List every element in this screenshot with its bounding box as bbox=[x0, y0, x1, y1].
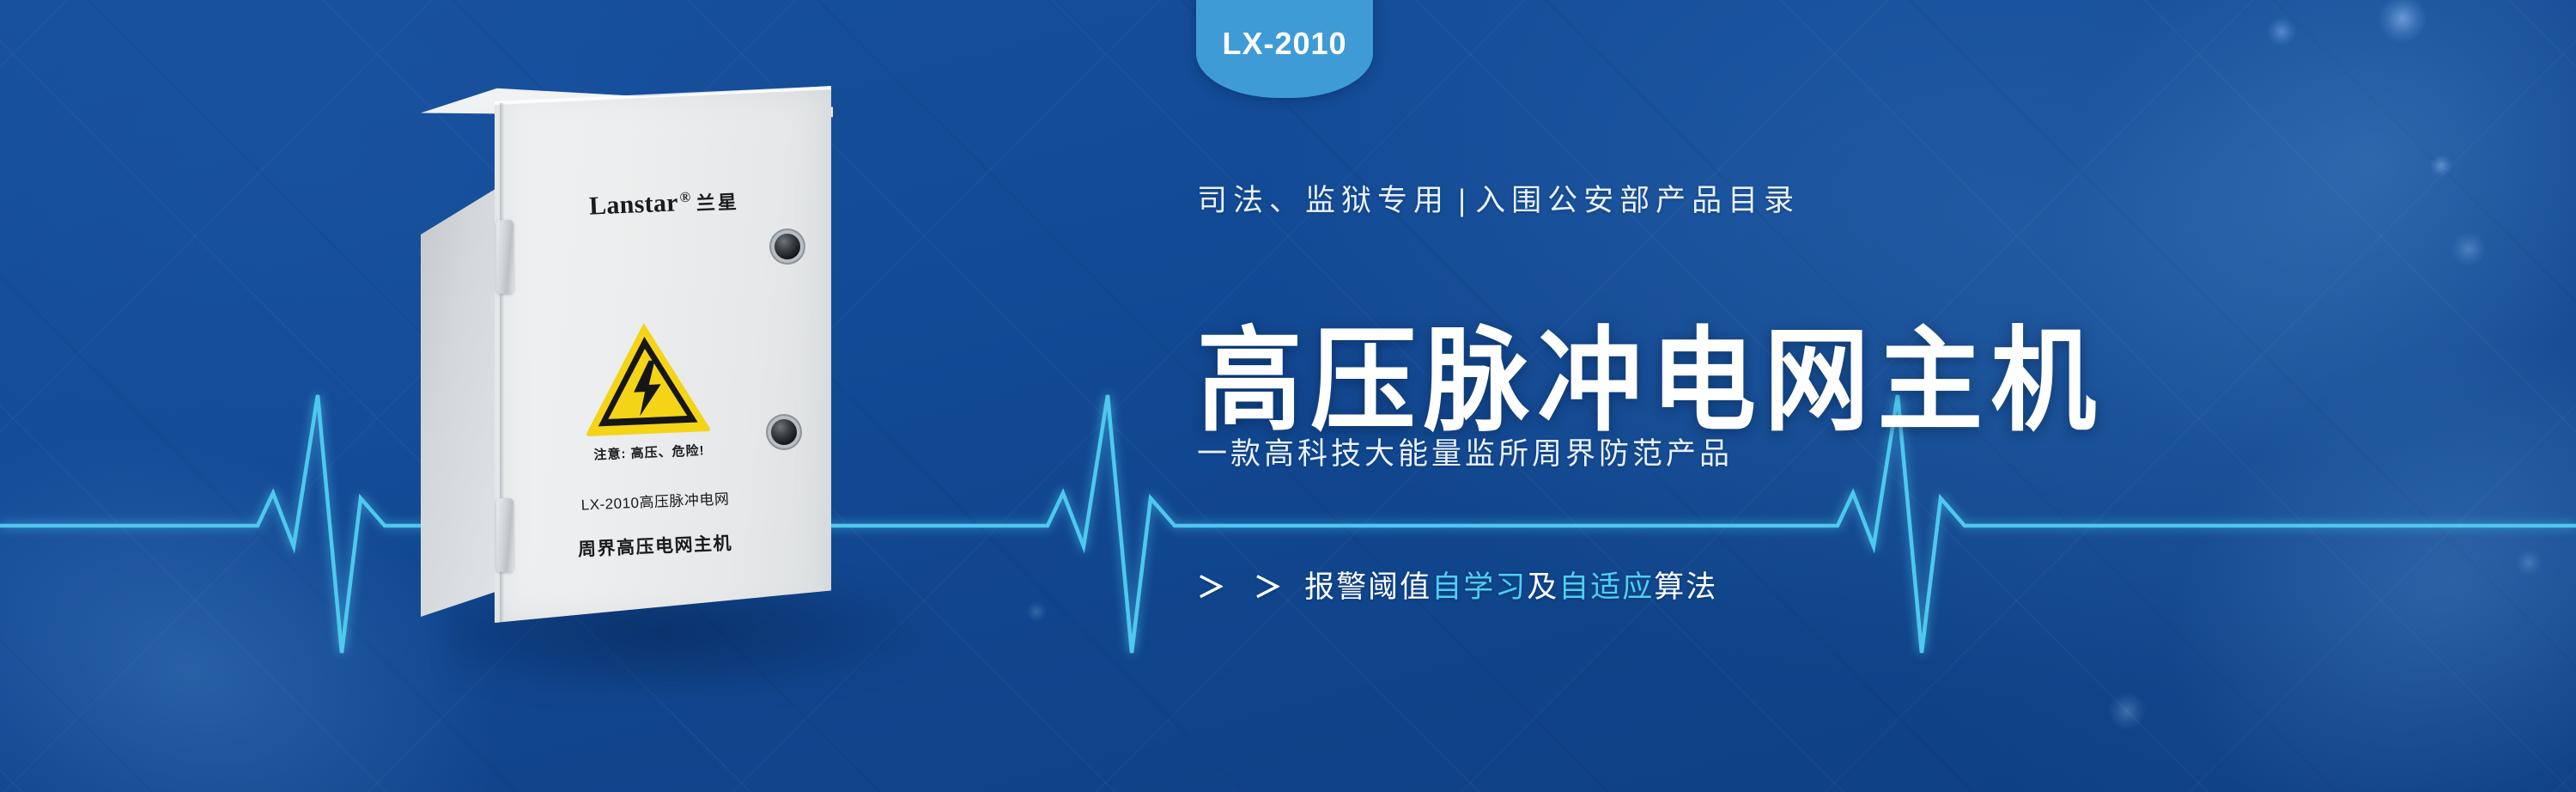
eyebrow-divider: | bbox=[1458, 184, 1472, 217]
cabinet-hinge-lower bbox=[496, 498, 513, 572]
brand-name-cn: 兰星 bbox=[696, 191, 739, 214]
feature-text-part5: 算法 bbox=[1654, 570, 1717, 604]
feature-text-highlight-2: 自适应 bbox=[1558, 570, 1654, 604]
registered-mark-icon: ® bbox=[679, 189, 691, 206]
product-hero-banner: Lanstar®兰星 注意: 高压、危险! LX-2010高压脉冲电网 周界高压… bbox=[0, 0, 2576, 792]
feature-text-highlight-1: 自学习 bbox=[1431, 570, 1527, 604]
eyebrow-left-text: 司法、监狱专用 bbox=[1197, 184, 1449, 217]
eyebrow-text: 司法、监狱专用|入围公安部产品目录 bbox=[1197, 176, 1800, 220]
cabinet-side-panel bbox=[421, 187, 498, 617]
eyebrow-right-text: 入围公安部产品目录 bbox=[1475, 184, 1800, 217]
feature-text-part1: 报警阈值 bbox=[1304, 570, 1431, 604]
model-badge: LX-2010 bbox=[1196, 0, 1373, 98]
tagline-text: 一款高科技大能量监所周界防范产品 bbox=[1197, 430, 1733, 473]
indicator-light-lower bbox=[771, 419, 797, 445]
high-voltage-icon-svg bbox=[580, 317, 713, 437]
feature-bullet: ＞ ＞报警阈值自学习及自适应算法 bbox=[1197, 563, 1717, 606]
page-title: 高压脉冲电网主机 bbox=[1197, 319, 2104, 443]
cabinet-hinge-upper bbox=[496, 220, 513, 294]
high-voltage-warning-label: 注意: 高压、危险! bbox=[562, 316, 732, 465]
brand-name: Lanstar bbox=[588, 188, 678, 220]
chevron-right-icon: ＞ ＞ bbox=[1197, 571, 1292, 603]
indicator-light-upper bbox=[775, 234, 800, 259]
model-badge-label: LX-2010 bbox=[1222, 26, 1346, 62]
product-image: Lanstar®兰星 注意: 高压、危险! LX-2010高压脉冲电网 周界高压… bbox=[421, 86, 970, 704]
high-voltage-triangle-icon bbox=[580, 317, 713, 437]
feature-text-part3: 及 bbox=[1527, 570, 1558, 604]
